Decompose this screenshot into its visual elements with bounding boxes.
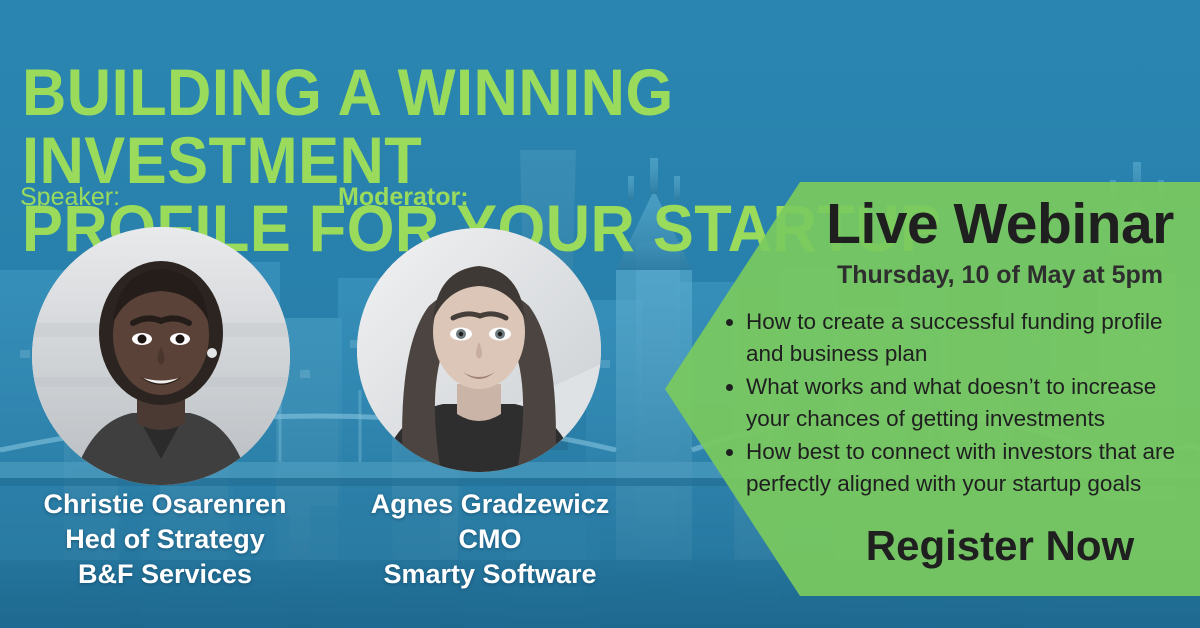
speaker-details: Christie Osarenren Hed of Strategy B&F S… [20,487,310,592]
register-now-cta[interactable]: Register Now [810,522,1190,570]
webinar-date: Thursday, 10 of May at 5pm [810,260,1190,290]
portrait-photo-agnes [357,228,601,472]
avatar-speaker [32,227,290,485]
speaker-company: B&F Services [20,557,310,592]
live-webinar-title: Live Webinar [810,194,1190,254]
webinar-info-panel: Live Webinar Thursday, 10 of May at 5pm … [660,178,1200,598]
moderator-details: Agnes Gradzewicz CMO Smarty Software [345,487,635,592]
webinar-promo-banner: BUILDING A WINNING INVESTMENT PROFILE FO… [0,0,1200,628]
moderator-name: Agnes Gradzewicz [345,487,635,522]
moderator-job-title: CMO [345,522,635,557]
portrait-photo-christie [32,227,290,485]
avatar-moderator [357,228,601,472]
speaker-name: Christie Osarenren [20,487,310,522]
agenda-item: How best to connect with investors that … [746,436,1198,500]
moderator-role-label: Moderator: [338,183,469,211]
moderator-company: Smarty Software [345,557,635,592]
agenda-item: What works and what doesn’t to increase … [746,371,1198,435]
speaker-job-title: Hed of Strategy [20,522,310,557]
panel-content: Live Webinar Thursday, 10 of May at 5pm … [660,178,1200,598]
agenda-item: How to create a successful funding profi… [746,306,1198,370]
speaker-role-label: Speaker: [20,183,120,211]
agenda-list: How to create a successful funding profi… [724,306,1198,501]
